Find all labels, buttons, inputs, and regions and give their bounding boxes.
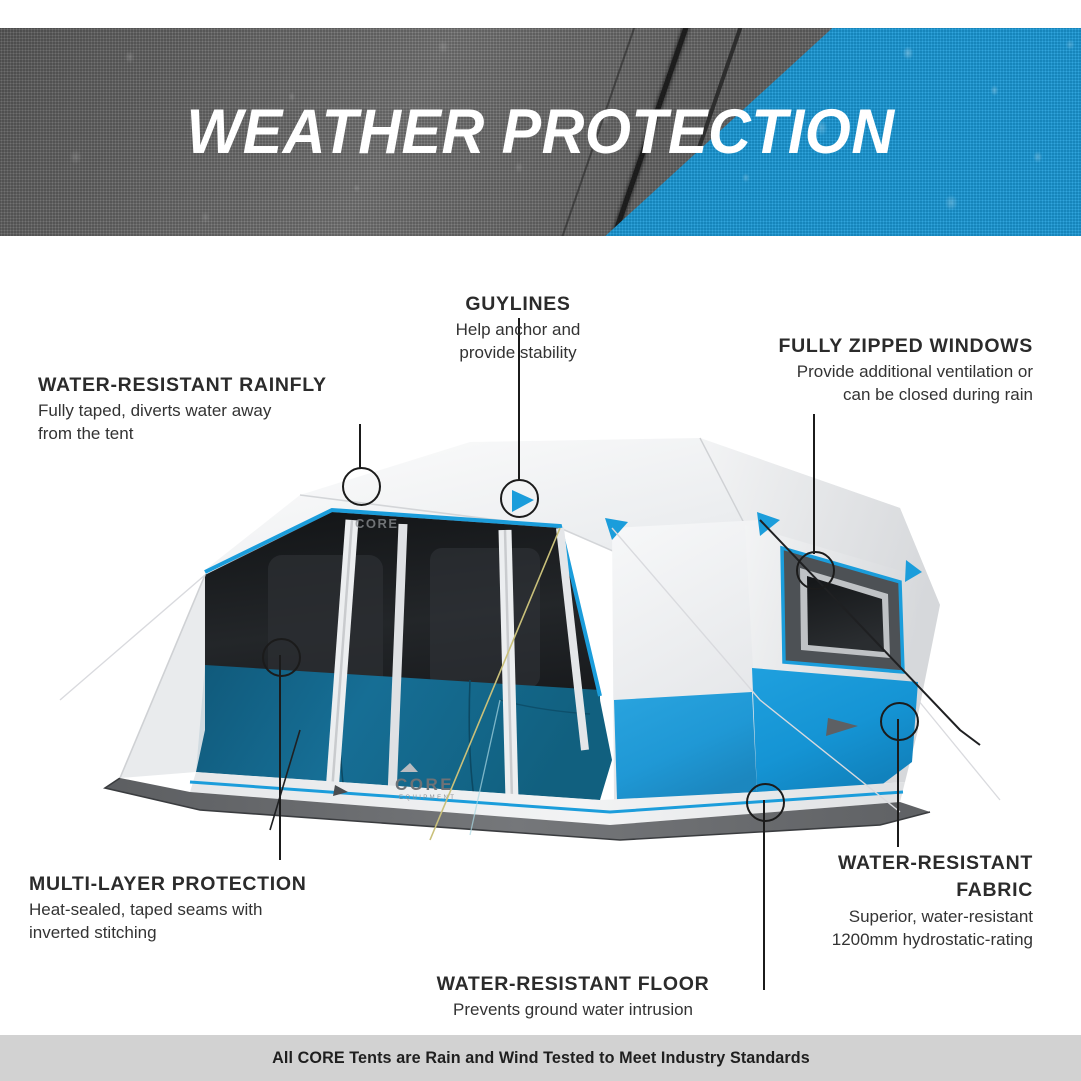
guyline-4 xyxy=(918,700,1000,800)
callout-desc-fabric-line2: 1200mm hydrostatic-rating xyxy=(700,929,1033,952)
callout-desc-floor-line1: Prevents ground water intrusion xyxy=(383,999,763,1022)
callout-ring-multilayer xyxy=(262,638,301,677)
callout-multi-layer-protection: MULTI-LAYER PROTECTION Heat-sealed, tape… xyxy=(29,872,449,944)
callout-desc-fabric-line1: Superior, water-resistant xyxy=(700,906,1033,929)
callout-title-fabric-line1: WATER-RESISTANT xyxy=(700,851,1033,875)
leader-line-windows xyxy=(813,414,815,554)
callout-title-fabric-line2: FABRIC xyxy=(700,878,1033,902)
callout-ring-floor xyxy=(746,783,785,822)
callout-fully-zipped-windows: FULLY ZIPPED WINDOWS Provide additional … xyxy=(640,334,1033,406)
right-side-blue-lower xyxy=(614,692,757,800)
core-logo-fly: CORE xyxy=(355,516,399,531)
footer-text: All CORE Tents are Rain and Wind Tested … xyxy=(272,1048,810,1068)
callout-desc-guylines-line1: Help anchor and xyxy=(378,319,658,342)
callout-title-guylines: GUYLINES xyxy=(378,292,658,316)
callout-ring-windows xyxy=(796,551,835,590)
callout-desc-multilayer-line2: inverted stitching xyxy=(29,922,449,945)
callout-desc-windows-line1: Provide additional ventilation or xyxy=(640,361,1033,384)
leader-line-fabric xyxy=(897,719,899,847)
svg-text:CORE: CORE xyxy=(395,775,454,794)
tent-svg: CORE CORE EQUIPMENT xyxy=(0,400,1081,870)
callout-title-floor: WATER-RESISTANT FLOOR xyxy=(383,972,763,996)
callout-title-rainfly: WATER-RESISTANT RAINFLY xyxy=(38,373,438,397)
inner-room-panel-right xyxy=(430,548,540,688)
callout-ring-guylines xyxy=(500,479,539,518)
callout-title-windows: FULLY ZIPPED WINDOWS xyxy=(640,334,1033,358)
header-banner: WEATHER PROTECTION xyxy=(0,28,1081,236)
tent-product-illustration: CORE CORE EQUIPMENT xyxy=(0,400,1081,870)
callout-ring-fabric xyxy=(880,702,919,741)
callout-desc-rainfly-line2: from the tent xyxy=(38,423,438,446)
callout-guylines: GUYLINES Help anchor and provide stabili… xyxy=(378,292,658,364)
callout-title-multilayer: MULTI-LAYER PROTECTION xyxy=(29,872,449,896)
callout-desc-windows-line2: can be closed during rain xyxy=(640,384,1033,407)
callout-water-resistant-fabric: WATER-RESISTANT FABRIC Superior, water-r… xyxy=(700,851,1033,952)
callout-ring-rainfly xyxy=(342,467,381,506)
footer-bar: All CORE Tents are Rain and Wind Tested … xyxy=(0,1035,1081,1081)
callout-water-resistant-rainfly: WATER-RESISTANT RAINFLY Fully taped, div… xyxy=(38,373,438,445)
callout-desc-guylines-line2: provide stability xyxy=(378,342,658,365)
page-title: WEATHER PROTECTION xyxy=(32,96,1048,168)
callout-desc-multilayer-line1: Heat-sealed, taped seams with xyxy=(29,899,449,922)
leader-line-multilayer xyxy=(279,655,281,860)
svg-text:CORE: CORE xyxy=(355,516,399,531)
callout-water-resistant-floor: WATER-RESISTANT FLOOR Prevents ground wa… xyxy=(383,972,763,1022)
callout-desc-rainfly-line1: Fully taped, diverts water away xyxy=(38,400,438,423)
